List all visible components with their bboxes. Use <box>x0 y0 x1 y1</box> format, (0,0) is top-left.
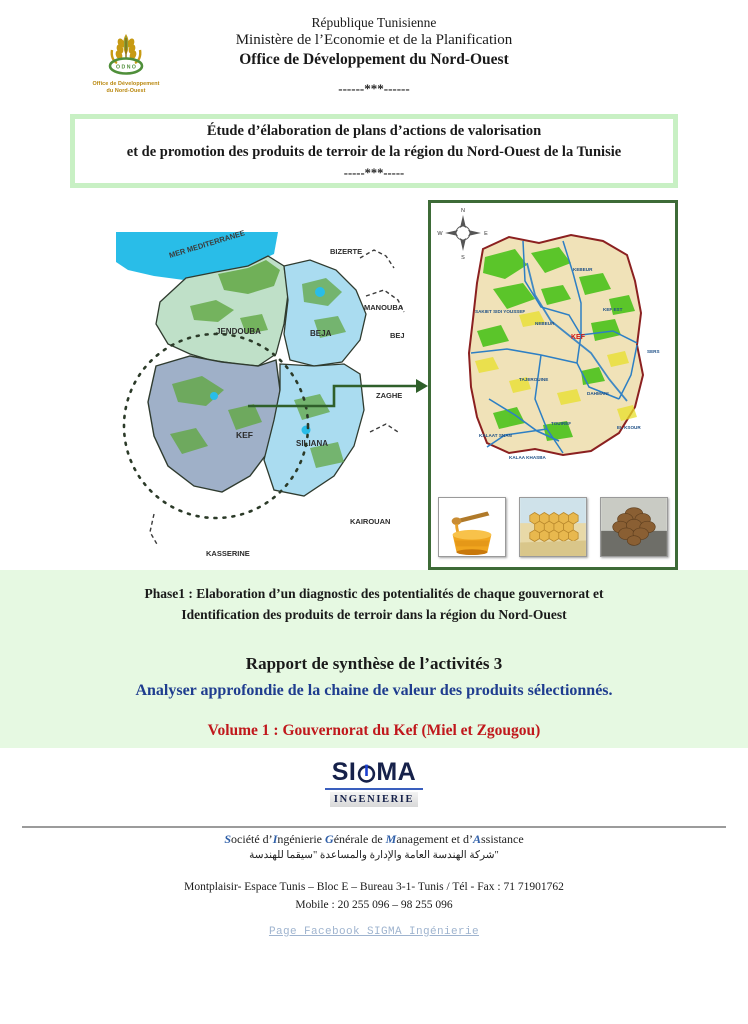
pine-cone-icon <box>601 498 667 556</box>
sigma-subtitle: INGENIERIE <box>330 792 418 807</box>
honey-jar-icon <box>439 498 505 556</box>
kef-label-sakiet-sidi-youssef: SAKIET SIDI YOUSSEF <box>475 309 525 314</box>
page-footer: SI MA INGENIERIE Société d’Ingénierie Gé… <box>0 760 748 807</box>
tagline-cap-m: M <box>386 832 397 846</box>
footer-divider <box>22 826 726 828</box>
map-label-zaghouan: ZAGHE <box>376 391 402 400</box>
tagline-rest-s: ociété d’ <box>231 832 273 846</box>
maps-section: MER MEDITERRANEE JENDOUBA BEJA <box>0 196 748 574</box>
kef-label-kalaat-snan-north: KEBEUR <box>573 267 593 272</box>
tagline-rest-a: ssistance <box>481 832 524 846</box>
kef-label-kalaa-khasba: KALAA KHASBA <box>509 455 547 460</box>
product-photos-strip <box>431 493 675 561</box>
odno-caption-line2: du Nord-Ouest <box>92 88 159 95</box>
study-title-line1: Étude d’élaboration de plans d’actions d… <box>207 121 541 142</box>
facebook-link-wrap: Page Facebook SIGMA Ingénierie <box>0 921 748 939</box>
kef-map-graphic-wrap: N S E W <box>431 203 675 495</box>
map-label-kairouan: KAIROUAN <box>350 517 390 526</box>
phase-line1: Phase1 : Elaboration d’un diagnostic des… <box>0 584 748 605</box>
phase-line2: Identification des produits de terroir d… <box>0 605 748 626</box>
address-line2: Mobile : 20 255 096 – 98 255 096 <box>0 897 748 915</box>
document-cover-page: O D N O Office de Développement du Nord-… <box>0 0 748 1024</box>
sigma-logo: SI MA INGENIERIE <box>324 760 424 807</box>
tagline-rest-m: anagement et d’ <box>396 832 473 846</box>
tagline-rest-i: ngénierie <box>277 832 325 846</box>
tagline-cap-a: A <box>473 832 481 846</box>
tagline-rest-g: énérale de <box>334 832 386 846</box>
region-map: MER MEDITERRANEE JENDOUBA BEJA <box>98 214 428 570</box>
sigma-theta-icon <box>357 763 376 782</box>
map-label-beja: BEJA <box>310 329 332 338</box>
map-label-bizerte: BIZERTE <box>330 247 362 256</box>
report-title: Rapport de synthèse de l’activités 3 <box>0 654 748 674</box>
company-tagline-arabic: "شركة الهندسة العامة والإدارة والمساعدة … <box>0 849 748 861</box>
kef-label-tajerouine: TAJEROUINE <box>519 377 548 382</box>
compass-north-label: N <box>461 208 465 214</box>
volume-label: Volume 1 : Gouvernorat du Kef (Miel et Z… <box>0 722 748 740</box>
kef-label-nebeur: NEBEUR <box>535 321 555 326</box>
compass-west-label: W <box>437 231 443 237</box>
sigma-wordmark: SI MA <box>324 760 424 785</box>
region-map-graphic: MER MEDITERRANEE JENDOUBA BEJA <box>98 214 428 570</box>
odno-badge-text: O D N O <box>116 65 136 71</box>
report-info-band: Phase1 : Elaboration d’un diagnostic des… <box>0 570 748 748</box>
study-title-stars: -----***----- <box>344 166 404 181</box>
map-label-manouba: MANOUBA <box>364 303 404 312</box>
company-address: Montplaisir- Espace Tunis – Bloc E – Bur… <box>0 879 748 915</box>
kef-capital-label: KEF <box>571 334 586 341</box>
kef-map-graphic: N S E W <box>431 203 675 495</box>
sigma-divider <box>325 788 423 790</box>
honeycomb-photo <box>519 497 587 557</box>
republic-line: République Tunisienne <box>0 14 748 31</box>
kef-label-kef-est: KEF EST <box>603 307 623 312</box>
facebook-link[interactable]: Page Facebook SIGMA Ingénierie <box>269 926 479 938</box>
odno-emblem-icon: O D N O <box>99 32 153 80</box>
map-label-kasserine: KASSERINE <box>206 549 250 558</box>
sigma-prefix: SI <box>332 760 357 785</box>
kef-label-sers: SERS <box>647 349 660 354</box>
kef-map-panel: N S E W <box>428 200 678 570</box>
address-line1: Montplaisir- Espace Tunis – Bloc E – Bur… <box>0 879 748 897</box>
compass-south-label: S <box>461 255 465 261</box>
compass-east-label: E <box>484 231 488 237</box>
map-label-siliana: SILIANA <box>296 439 328 448</box>
odno-logo: O D N O Office de Développement du Nord-… <box>78 32 174 98</box>
odno-caption-line1: Office de Développement <box>92 81 159 88</box>
kef-label-touiref: TOUIREF <box>551 421 571 426</box>
kef-label-el-ksour: EL KSOUR <box>617 425 641 430</box>
study-title-box: Étude d’élaboration de plans d’actions d… <box>70 114 678 188</box>
map-label-kef: KEF <box>236 430 253 440</box>
map-label-bej: BEJ <box>390 331 405 340</box>
tagline-cap-g: G <box>325 832 334 846</box>
odno-logo-caption: Office de Développement du Nord-Ouest <box>92 81 159 95</box>
report-subtitle: Analyser approfondie de la chaine de val… <box>0 682 748 700</box>
page-header: O D N O Office de Développement du Nord-… <box>0 0 748 110</box>
honey-jar-photo <box>438 497 506 557</box>
kef-label-dahmani: DAHMANI <box>587 391 609 396</box>
sigma-suffix: MA <box>376 760 416 785</box>
study-title-line2: et de promotion des produits de terroir … <box>127 142 621 163</box>
pine-cone-photo <box>600 497 668 557</box>
company-tagline: Société d’Ingénierie Générale de Managem… <box>0 832 748 847</box>
kef-label-kalaat-snan: KALAAT SNAN <box>479 433 513 438</box>
honeycomb-icon <box>520 498 586 556</box>
